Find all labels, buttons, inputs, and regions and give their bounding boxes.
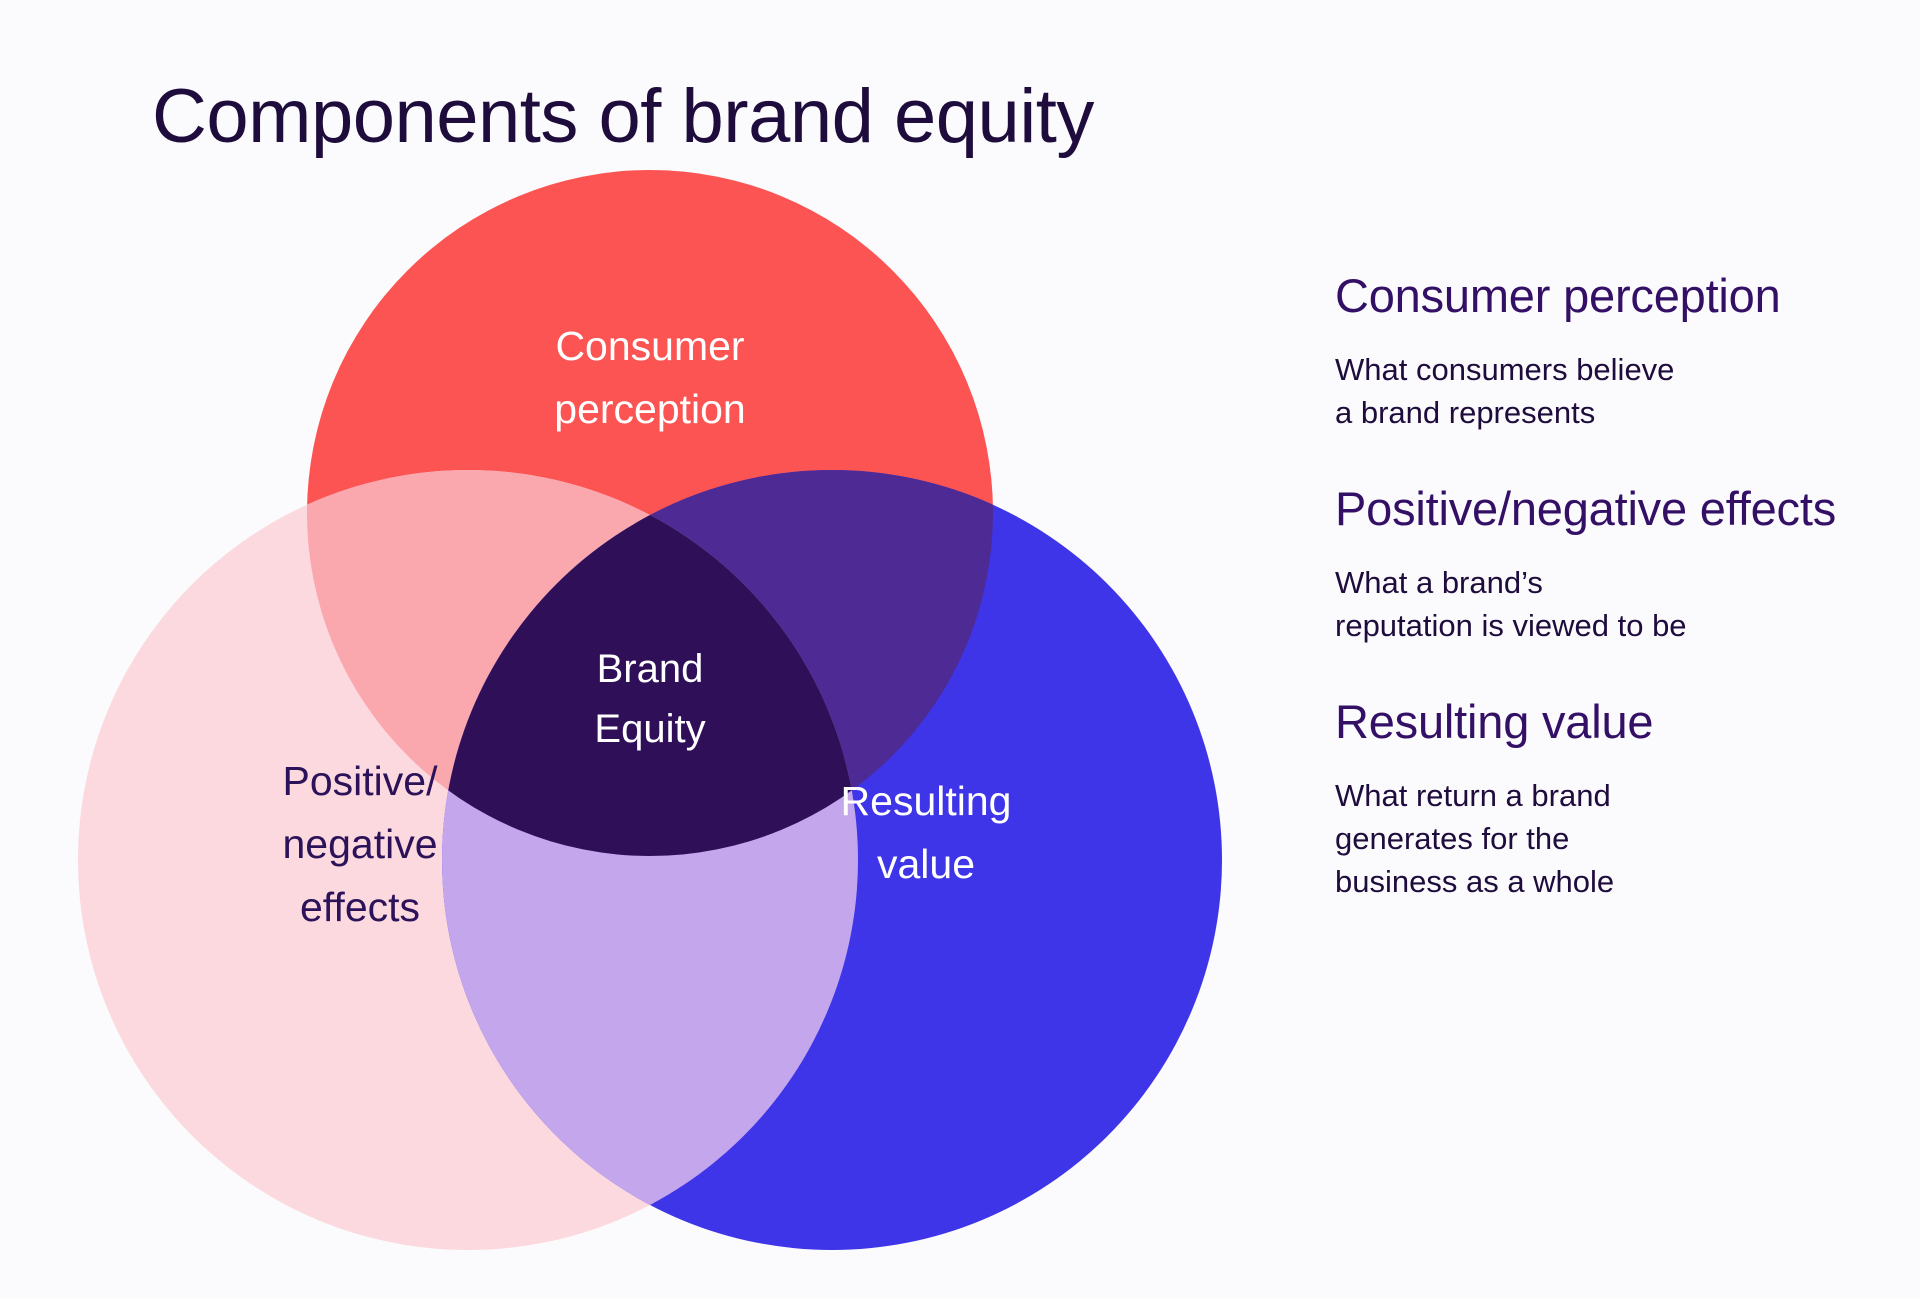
legend-desc-line1: What return a brand [1335,775,1855,818]
legend-item-consumer-perception: Consumer perception What consumers belie… [1335,268,1855,435]
label-brand-equity-line2: Equity [594,707,705,751]
venn-diagram: Consumer perception Positive/ negative e… [60,170,1240,1280]
legend-item-positive-negative-effects: Positive/negative effects What a brand’s… [1335,481,1855,648]
page-title: Components of brand equity [152,73,1094,160]
legend-heading-line2: effects [1700,482,1836,535]
diagram-page: Components of brand equity [0,0,1920,1299]
legend-desc-consumer-perception: What consumers believe a brand represent… [1335,349,1855,435]
legend-desc-line3: business as a whole [1335,861,1855,904]
legend-desc-line2: generates for the [1335,818,1855,861]
legend-heading-resulting-value: Resulting value [1335,694,1855,749]
legend-item-resulting-value: Resulting value What return a brand gene… [1335,694,1855,904]
label-brand-equity-line1: Brand [597,647,704,691]
legend-desc-resulting-value: What return a brand generates for the bu… [1335,775,1855,903]
label-positive-negative-effects-line3: effects [300,884,420,930]
legend-desc-line2: reputation is viewed to be [1335,605,1855,648]
legend-heading-consumer-perception: Consumer perception [1335,268,1855,323]
label-resulting-value-line1: Resulting [841,778,1012,824]
legend-heading-line2: perception [1563,269,1781,322]
legend-heading-positive-negative-effects: Positive/negative effects [1335,481,1855,536]
legend-heading-line1: Positive/negative [1335,482,1687,535]
label-consumer-perception-line1: Consumer [555,323,744,369]
legend-desc-line1: What consumers believe [1335,349,1855,392]
legend-heading-line1: Consumer [1335,269,1550,322]
legend-desc-positive-negative-effects: What a brand’s reputation is viewed to b… [1335,562,1855,648]
label-positive-negative-effects-line2: negative [282,821,437,867]
legend-list: Consumer perception What consumers belie… [1335,268,1855,904]
label-consumer-perception-line2: perception [554,386,745,432]
legend-desc-line1: What a brand’s [1335,562,1855,605]
label-positive-negative-effects: Positive/ negative effects [282,758,438,930]
venn-svg: Consumer perception Positive/ negative e… [60,170,1240,1280]
label-resulting-value-line2: value [877,841,975,887]
legend-desc-line2: a brand represents [1335,392,1855,435]
legend-heading-line1: Resulting value [1335,695,1653,748]
label-positive-negative-effects-line1: Positive/ [283,758,439,804]
